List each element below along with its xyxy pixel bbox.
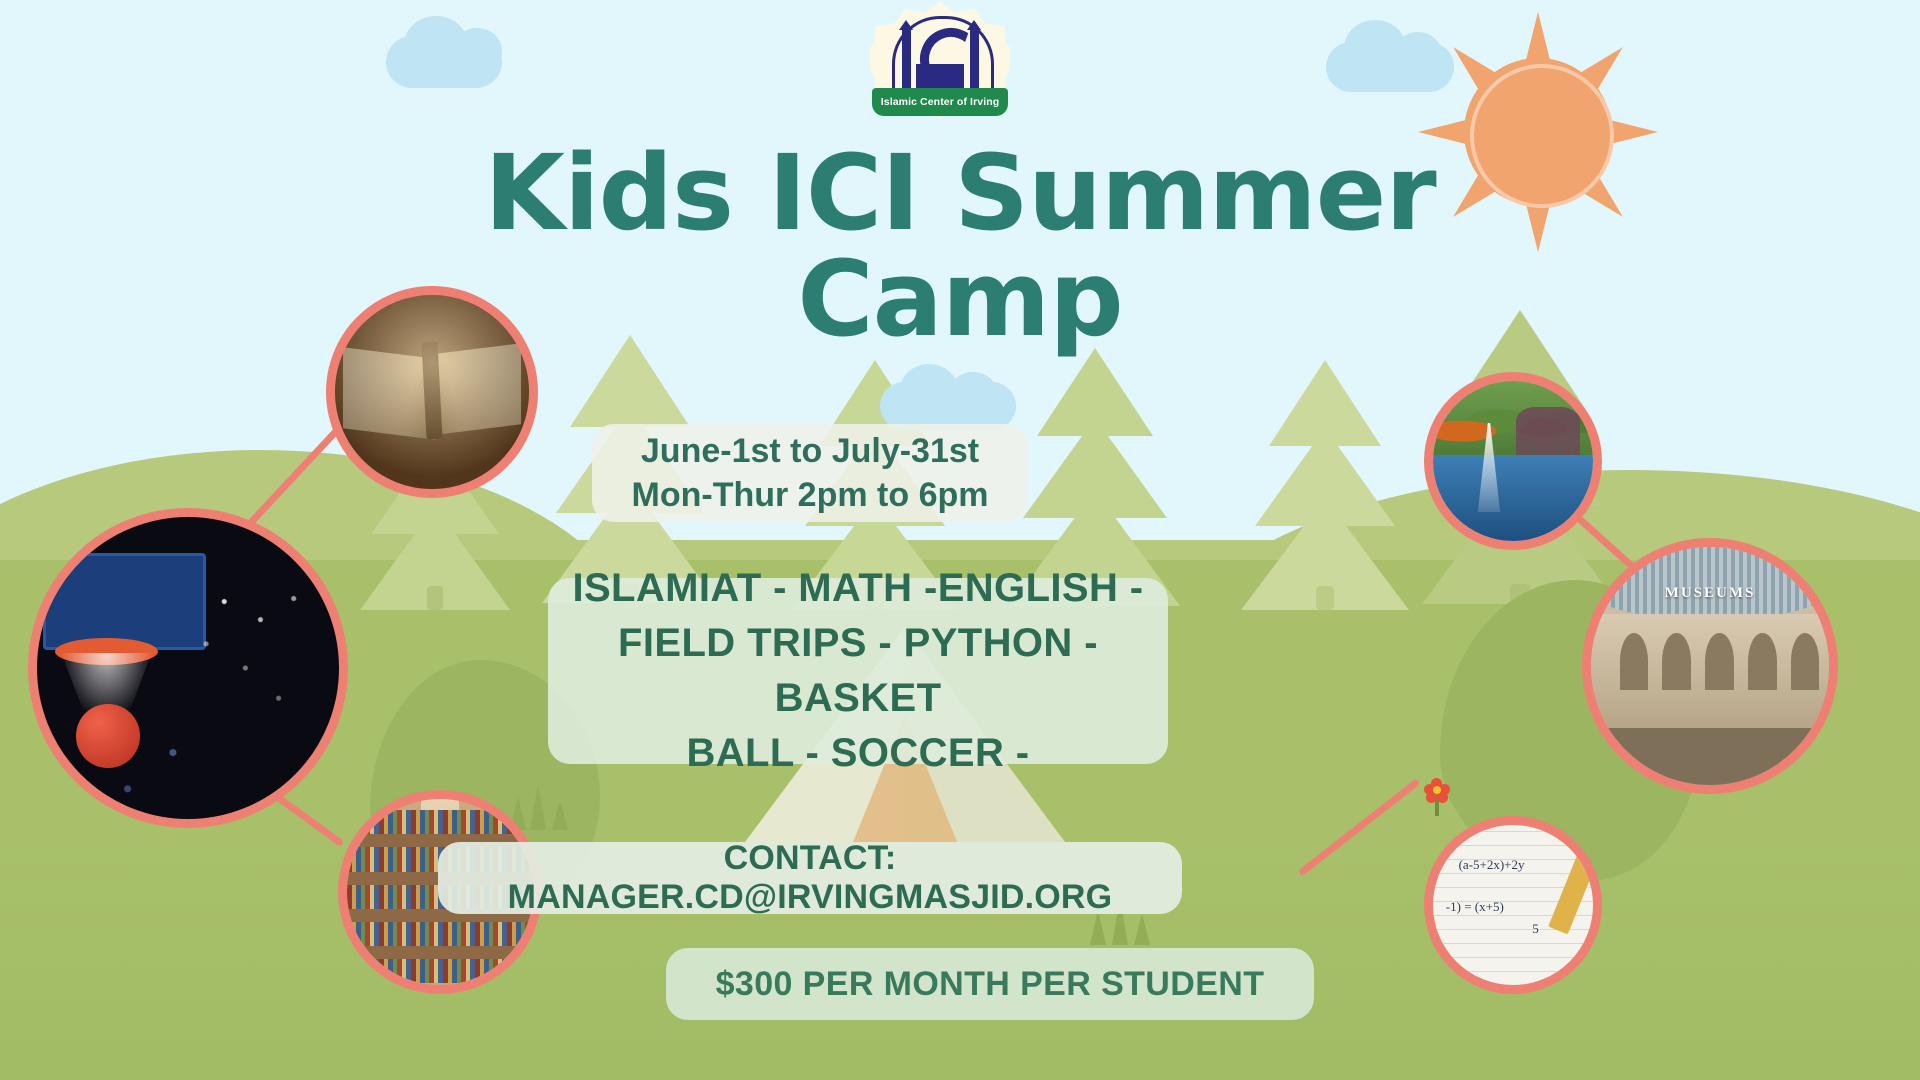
- logo-banner-text: Islamic Center of Irving: [881, 96, 1000, 108]
- arena-lights: [37, 517, 339, 819]
- camp-dates-panel: June-1st to July-31st Mon-Thur 2pm to 6p…: [592, 424, 1028, 522]
- math-equation-1: (a-5+2x)+2y: [1459, 857, 1525, 873]
- museum-arch: [1620, 633, 1649, 690]
- museum-interior-photo[interactable]: MUSEUMS: [1582, 538, 1838, 794]
- museum-caption: MUSEUMS: [1591, 585, 1829, 602]
- museum-arch: [1748, 633, 1777, 690]
- library-books-row: [347, 959, 533, 983]
- flower-center: [1433, 786, 1441, 794]
- tree-icon: [1240, 360, 1410, 610]
- subjects-line-2: FIELD TRIPS - PYTHON - BASKET: [548, 616, 1168, 726]
- park-fountain-photo[interactable]: [1424, 372, 1602, 550]
- price-panel: $300 PER MONTH PER STUDENT: [666, 948, 1314, 1020]
- islamic-center-of-irving-logo: Islamic Center of Irving: [860, 2, 1020, 120]
- summer-camp-flyer: Islamic Center of Irving Kids ICI Summer…: [0, 0, 1920, 1080]
- museum-floor: [1591, 728, 1829, 785]
- page-title: Kids ICI Summer Camp: [0, 140, 1920, 352]
- library-books-row: [347, 810, 533, 834]
- basketball-hoop-photo[interactable]: [28, 508, 348, 828]
- contact-panel[interactable]: CONTACT: MANAGER.CD@IRVINGMASJID.ORG: [438, 842, 1182, 914]
- logo-minaret-left-cap: [899, 20, 913, 30]
- subjects-line-1: ISLAMIAT - MATH -ENGLISH -: [548, 561, 1168, 616]
- quran-book-photo[interactable]: [326, 286, 538, 498]
- library-books-row: [347, 922, 533, 946]
- cloud-left-puff2: [452, 28, 502, 74]
- cloud-center-puff2: [948, 372, 998, 418]
- title-line-1: Kids ICI Summer: [0, 140, 1920, 246]
- grass-tuft: [552, 800, 568, 830]
- museum-glass-roof: [1591, 547, 1829, 618]
- camp-subjects-panel: ISLAMIAT - MATH -ENGLISH - FIELD TRIPS -…: [548, 578, 1168, 764]
- camp-dates-line-1: June-1st to July-31st: [632, 429, 989, 473]
- logo-banner: Islamic Center of Irving: [872, 88, 1008, 116]
- math-equation-2: -1) = (x+5): [1446, 899, 1504, 915]
- math-homework-photo[interactable]: (a-5+2x)+2y -1) = (x+5) 5: [1424, 816, 1602, 994]
- museum-arch: [1791, 633, 1820, 690]
- museum-arch: [1705, 633, 1734, 690]
- title-line-2: Camp: [0, 246, 1920, 352]
- museum-arch: [1662, 633, 1691, 690]
- grass-tuft: [1134, 913, 1150, 945]
- flower-icon: [1424, 780, 1450, 816]
- contact-text: CONTACT: MANAGER.CD@IRVINGMASJID.ORG: [438, 839, 1182, 917]
- logo-minaret-right-cap: [967, 20, 981, 30]
- math-equation-3: 5: [1532, 921, 1539, 937]
- subjects-line-3: BALL - SOCCER -: [548, 726, 1168, 781]
- camp-dates-line-2: Mon-Thur 2pm to 6pm: [632, 473, 989, 517]
- quran-glow: [335, 295, 529, 489]
- park-pond: [1433, 455, 1593, 541]
- library-shelf: [347, 946, 533, 959]
- price-text: $300 PER MONTH PER STUDENT: [716, 965, 1265, 1004]
